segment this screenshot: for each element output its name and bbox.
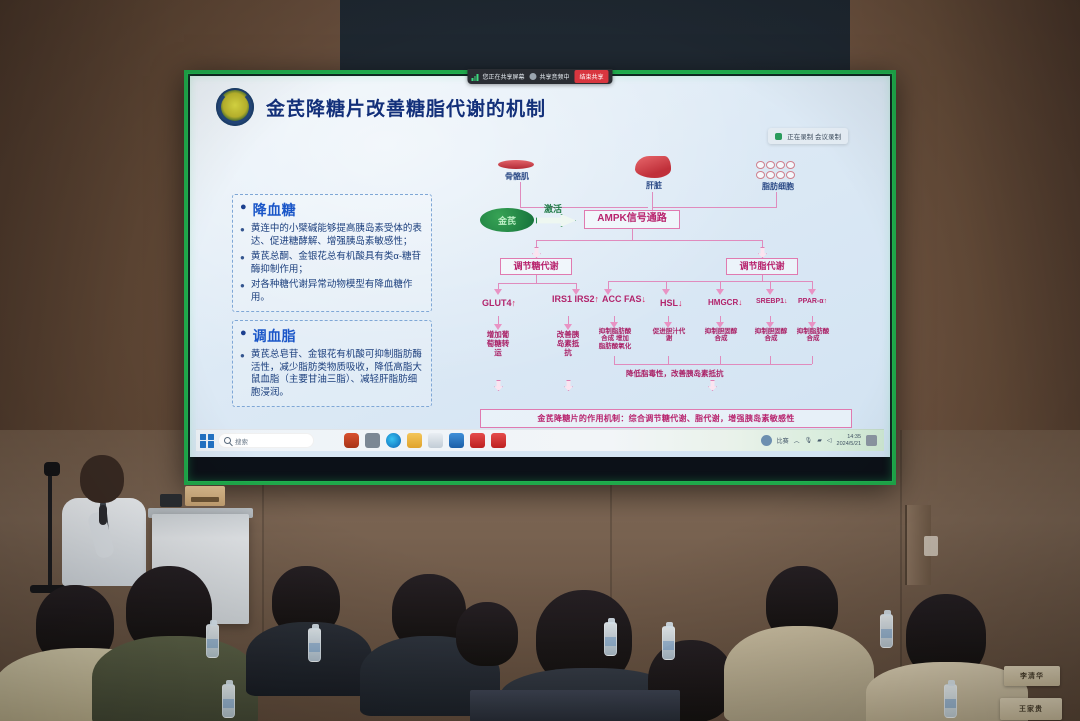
water-bottle bbox=[880, 614, 893, 648]
nameplate: 李清华 bbox=[1004, 666, 1060, 686]
conference-room-photo: 金芪降糖片改善糖脂代谢的机制 ● 降血糖 ● 黄连中的小檗碱能够提高胰岛素受体的… bbox=[0, 0, 1080, 721]
water-bottle bbox=[308, 628, 321, 662]
projection-screen: 金芪降糖片改善糖脂代谢的机制 ● 降血糖 ● 黄连中的小檗碱能够提高胰岛素受体的… bbox=[184, 70, 896, 485]
handheld-microphone-icon bbox=[99, 505, 107, 525]
share-status-label: 您正在共享屏幕 bbox=[482, 72, 524, 81]
audience-table bbox=[470, 690, 680, 721]
audience-head bbox=[456, 602, 518, 666]
podium-control-panel bbox=[160, 494, 182, 507]
share-status: 您正在共享屏幕 bbox=[471, 72, 524, 81]
record-icon bbox=[775, 133, 782, 140]
exit-sign bbox=[924, 536, 938, 556]
water-bottle bbox=[206, 624, 219, 658]
share-audio-label: 共享音频中 bbox=[539, 72, 569, 81]
nameplate: 王家贵 bbox=[1000, 698, 1062, 720]
podium-laptop bbox=[185, 486, 225, 506]
signal-bars-icon bbox=[471, 73, 479, 81]
water-bottle bbox=[944, 684, 957, 718]
water-bottle bbox=[662, 626, 675, 660]
microphone-head-icon bbox=[44, 462, 60, 476]
recording-toast: 正在录制 会议录制 bbox=[768, 128, 848, 144]
audio-dot-icon bbox=[529, 73, 536, 80]
presenter-hair bbox=[80, 455, 124, 503]
toast-label: 正在录制 会议录制 bbox=[787, 131, 841, 141]
audience-shoulders bbox=[724, 626, 874, 721]
microphone-stand bbox=[48, 470, 52, 590]
water-bottle bbox=[604, 622, 617, 656]
water-bottle bbox=[222, 684, 235, 718]
screen-share-toolbar[interactable]: 您正在共享屏幕 共享音频中 结束共享 bbox=[467, 69, 612, 84]
wall-seam bbox=[900, 430, 902, 680]
share-audio[interactable]: 共享音频中 bbox=[529, 72, 569, 81]
stop-share-button[interactable]: 结束共享 bbox=[575, 70, 609, 83]
